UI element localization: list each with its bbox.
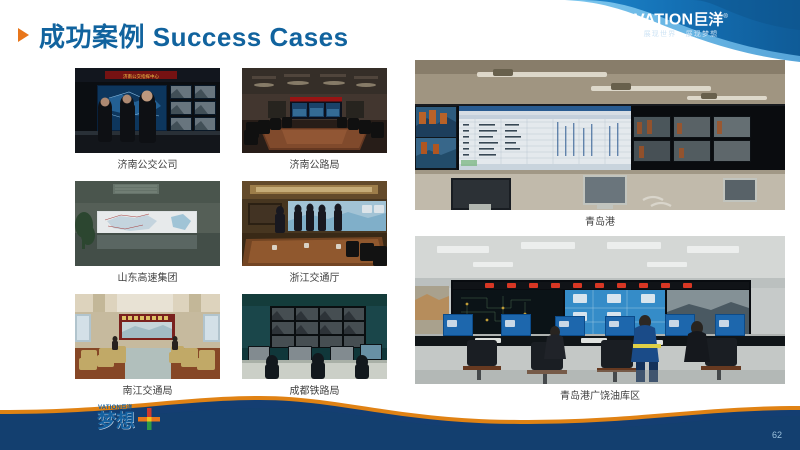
case-photo-auditorium-hall[interactable] xyxy=(75,294,220,379)
case-photo-meeting-room-people[interactable] xyxy=(242,181,387,266)
page-number: 62 xyxy=(772,430,782,440)
brand-logo-footer: VATION巨洋 梦想 xyxy=(97,405,161,432)
slide-title-row: 成功案例 Success Cases xyxy=(18,18,349,52)
brand-logo-header: VATION巨洋® 展现世界 展现梦想 xyxy=(617,9,745,39)
case-item[interactable]: 山东高速集团 xyxy=(75,181,220,294)
case-feature-column: 青岛港 xyxy=(415,60,785,403)
case-caption: 济南公路局 xyxy=(242,153,387,181)
case-photo-monitoring-center-desks[interactable] xyxy=(242,294,387,379)
case-thumbnail-grid: 济南公交指挥中心 xyxy=(75,68,387,407)
brand-slogan-dream: 梦想 xyxy=(97,412,135,432)
brand-tagline-left: 展现世界 xyxy=(644,31,677,38)
brand-tagline: 展现世界 展现梦想 xyxy=(617,29,745,39)
triangle-bullet-icon xyxy=(18,28,29,42)
case-photo-oil-depot-control-room[interactable] xyxy=(415,236,785,384)
brand-logo-wordmark: VATION巨洋® xyxy=(617,9,745,28)
case-caption: 济南公交公司 xyxy=(75,153,220,181)
brand-logo-trademark: ® xyxy=(723,14,728,20)
pinwheel-cross-icon xyxy=(137,407,161,431)
case-item[interactable]: 浙江交通厅 xyxy=(242,181,387,294)
case-photo-conference-room-red-led[interactable] xyxy=(242,68,387,153)
case-photo-map-display-hall[interactable] xyxy=(75,181,220,266)
case-item-feature[interactable]: 青岛港广饶油库区 xyxy=(415,236,785,403)
brand-tagline-right: 展现梦想 xyxy=(686,31,719,38)
content-area: 济南公交指挥中心 xyxy=(0,60,800,410)
case-caption: 浙江交通厅 xyxy=(242,266,387,294)
case-caption: 山东高速集团 xyxy=(75,266,220,294)
case-item-feature[interactable]: 青岛港 xyxy=(415,60,785,229)
brand-logo-latin: VATION xyxy=(634,11,693,28)
brand-logo-cn: 巨洋 xyxy=(693,11,723,28)
page-title: 成功案例 Success Cases xyxy=(39,17,349,54)
case-photo-control-room-video-wall[interactable]: 济南公交指挥中心 xyxy=(75,68,220,153)
case-photo-port-control-room-spreadsheet[interactable] xyxy=(415,60,785,210)
case-item[interactable]: 济南公交指挥中心 xyxy=(75,68,220,181)
case-caption: 青岛港 xyxy=(415,210,785,229)
case-item[interactable]: 济南公路局 xyxy=(242,68,387,181)
